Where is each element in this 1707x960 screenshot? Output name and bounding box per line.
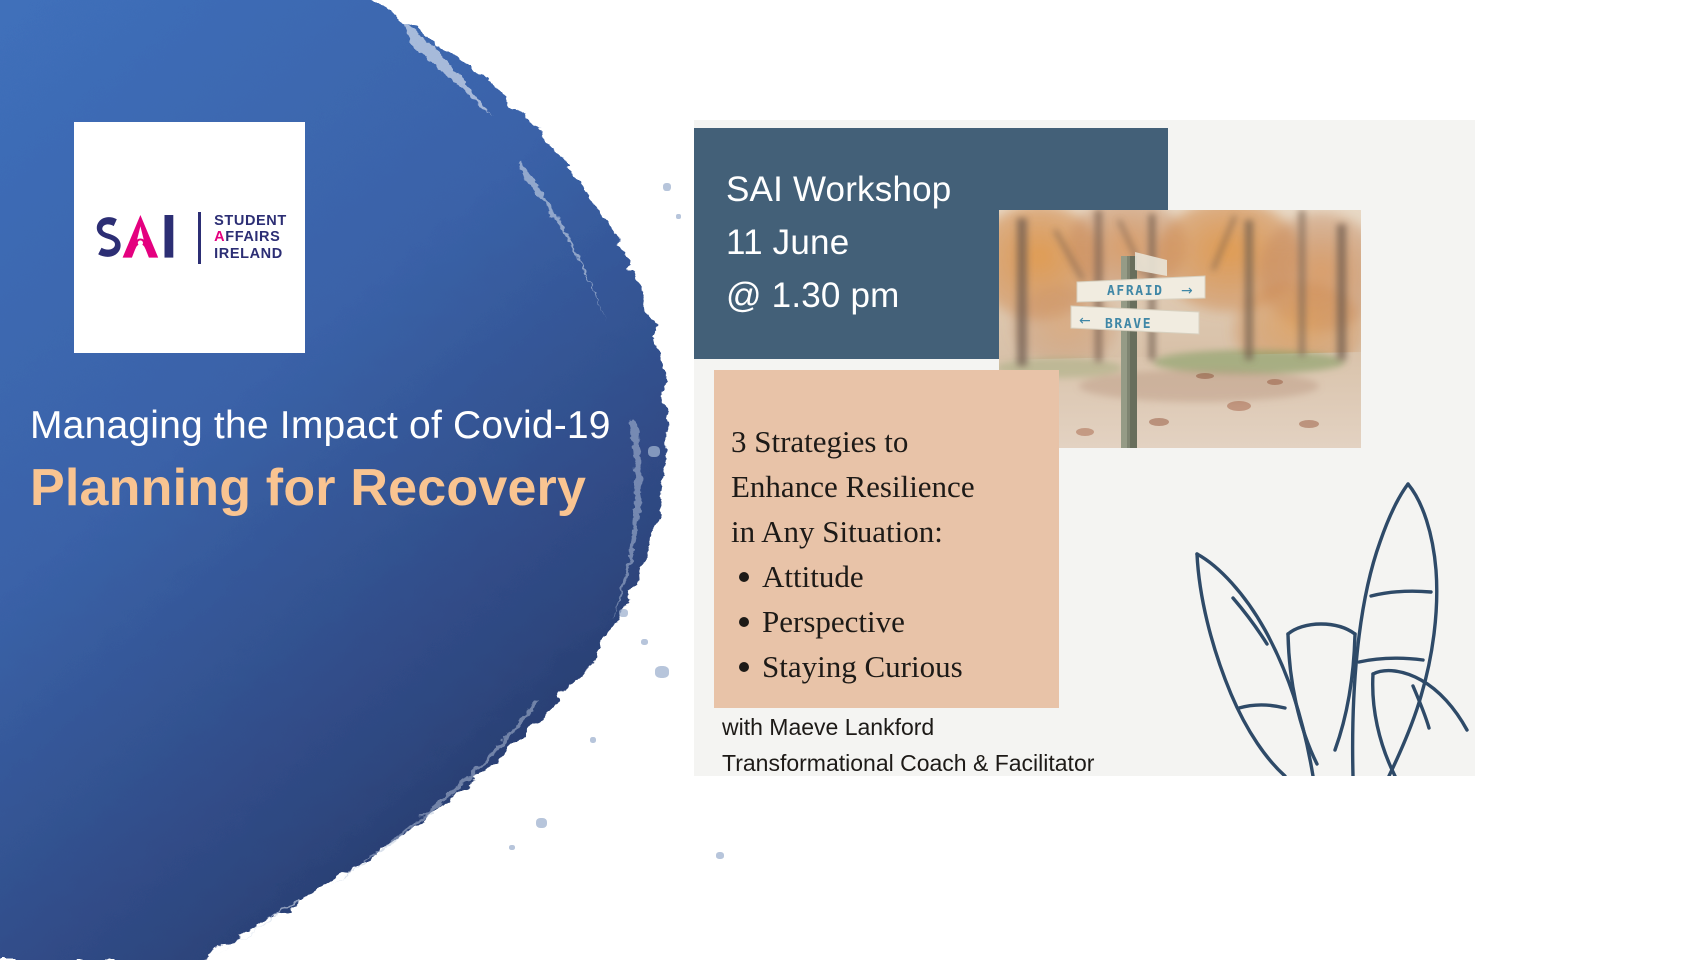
- logo-divider: [198, 212, 201, 264]
- topic-text: 3 Strategies to Enhance Resilience in An…: [731, 420, 1051, 690]
- slide-canvas: STUDENT AFFAIRS IRELAND Managing the Imp…: [0, 0, 1707, 960]
- paint-speck: [641, 639, 648, 645]
- presenter-role: Transformational Coach & Facilitator: [722, 745, 1222, 781]
- sai-logo-card: STUDENT AFFAIRS IRELAND: [74, 122, 305, 353]
- list-item: Perspective: [731, 600, 1051, 645]
- event-date: 11 June: [726, 216, 951, 269]
- paint-speck: [590, 737, 596, 743]
- kicker-text: Managing the Impact of Covid-19: [30, 404, 690, 448]
- paint-speck: [536, 818, 547, 828]
- sai-wordmark: STUDENT AFFAIRS IRELAND: [214, 213, 287, 262]
- wordmark-line-1: STUDENT: [214, 213, 287, 229]
- event-time: @ 1.30 pm: [726, 269, 951, 322]
- bullet-label: Attitude: [762, 555, 864, 600]
- bullet-dot-icon: [739, 662, 749, 672]
- topic-lead-line-2: Enhance Resilience: [731, 465, 1051, 510]
- paint-speck: [619, 609, 628, 617]
- bullet-dot-icon: [739, 572, 749, 582]
- presenter-credit: with Maeve Lankford Transformational Coa…: [722, 709, 1222, 782]
- paint-speck: [509, 845, 515, 850]
- paint-speck: [676, 214, 681, 219]
- headline-text: Planning for Recovery: [30, 458, 730, 518]
- paint-speck: [655, 666, 669, 678]
- list-item: Staying Curious: [731, 645, 1051, 690]
- paint-speck: [663, 183, 671, 191]
- wordmark-line-3: IRELAND: [214, 246, 287, 262]
- topic-lead-line-3: in Any Situation:: [731, 510, 1051, 555]
- paint-speck: [716, 852, 724, 859]
- sign-label-brave: BRAVE: [1105, 317, 1152, 332]
- event-info-lines: SAI Workshop 11 June @ 1.30 pm: [726, 163, 951, 323]
- topic-box: 3 Strategies to Enhance Resilience in An…: [714, 370, 1059, 708]
- sign-label-afraid: AFRAID: [1107, 284, 1164, 299]
- sign-arrow-right: →: [1181, 283, 1193, 299]
- bullet-label: Perspective: [762, 600, 905, 645]
- sai-monogram-icon: [92, 213, 188, 263]
- sign-arrow-left: ←: [1079, 313, 1091, 329]
- event-title: SAI Workshop: [726, 163, 951, 216]
- topic-bullet-list: Attitude Perspective Staying Curious: [731, 555, 1051, 690]
- wordmark-line-2: AFFAIRS: [214, 229, 287, 245]
- list-item: Attitude: [731, 555, 1051, 600]
- bullet-label: Staying Curious: [762, 645, 963, 690]
- presenter-name: with Maeve Lankford: [722, 709, 1222, 745]
- bullet-dot-icon: [739, 617, 749, 627]
- topic-lead-line-1: 3 Strategies to: [731, 420, 1051, 465]
- sai-logo: STUDENT AFFAIRS IRELAND: [92, 212, 287, 264]
